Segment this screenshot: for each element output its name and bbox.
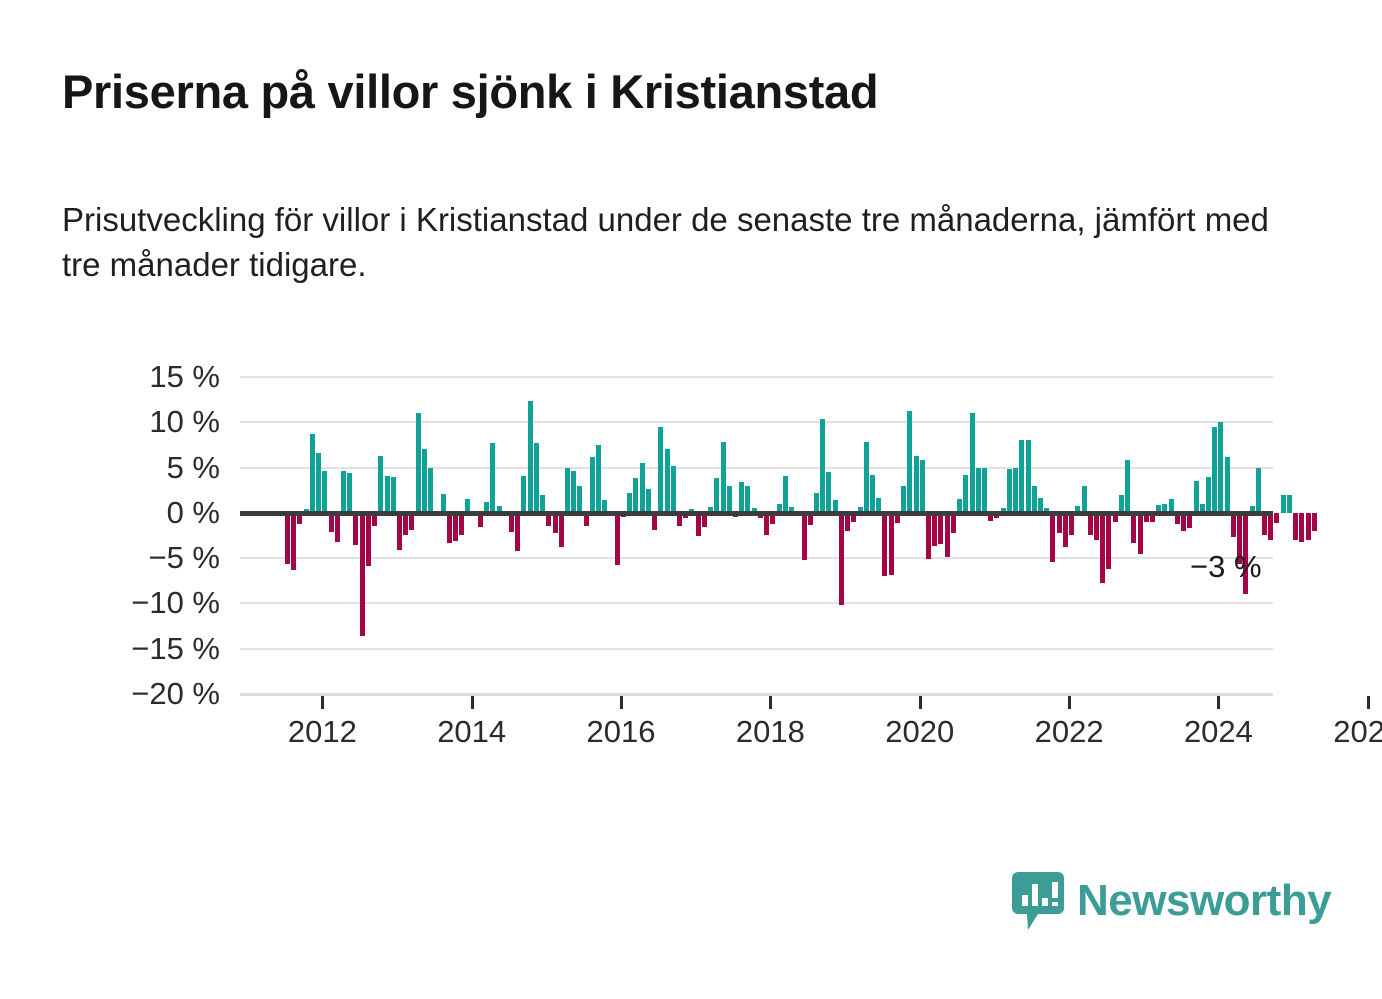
- bar: [571, 471, 576, 513]
- plot-area: [240, 377, 1273, 694]
- bar: [665, 449, 670, 512]
- bar: [889, 513, 894, 575]
- bar: [1262, 513, 1267, 536]
- bar: [976, 468, 981, 513]
- bar: [1256, 468, 1261, 513]
- bar: [1212, 427, 1217, 513]
- bar: [316, 453, 321, 513]
- x-axis-tick: [1068, 696, 1071, 709]
- bar: [696, 513, 701, 537]
- bar: [1218, 422, 1223, 513]
- x-axis-tick-label: 2016: [587, 714, 656, 750]
- bar: [1019, 440, 1024, 512]
- bar: [764, 513, 769, 536]
- bar: [932, 513, 937, 547]
- bar: [596, 445, 601, 513]
- bar: [322, 471, 327, 513]
- bar: [366, 513, 371, 566]
- y-axis-tick-label: −5 %: [90, 540, 220, 576]
- bar: [1194, 481, 1199, 513]
- bar: [963, 475, 968, 513]
- bar: [1206, 477, 1211, 513]
- bar: [285, 513, 290, 564]
- bar: [783, 476, 788, 513]
- x-axis-tick: [321, 696, 324, 709]
- bar: [590, 457, 595, 513]
- bar: [559, 513, 564, 547]
- bar: [627, 493, 632, 513]
- bar: [1063, 513, 1068, 547]
- bar: [914, 456, 919, 513]
- y-axis-tick-label: 15 %: [90, 359, 220, 395]
- bar: [945, 513, 950, 557]
- x-axis-tick: [919, 696, 922, 709]
- bar-chart: 15 %10 %5 %0 %−5 %−10 %−15 %−20 % 201220…: [0, 0, 1382, 999]
- bar: [820, 419, 825, 513]
- bar: [1299, 513, 1304, 542]
- bar: [926, 513, 931, 559]
- bar: [745, 486, 750, 513]
- bar: [658, 427, 663, 513]
- bar: [870, 475, 875, 513]
- y-axis-tick-label: 0 %: [90, 495, 220, 531]
- bar: [534, 443, 539, 513]
- bar: [391, 477, 396, 513]
- bar-series: [240, 377, 1273, 694]
- bar: [521, 476, 526, 513]
- bar: [938, 513, 943, 544]
- x-axis-tick: [1367, 696, 1370, 709]
- bar: [882, 513, 887, 576]
- bar: [1013, 468, 1018, 513]
- bar: [1106, 513, 1111, 569]
- bar: [839, 513, 844, 605]
- bar: [453, 513, 458, 541]
- x-axis: 20122014201620182020202220242026: [240, 694, 1273, 774]
- bar: [714, 478, 719, 512]
- x-axis-tick-label: 2014: [437, 714, 506, 750]
- bar: [577, 486, 582, 513]
- bar: [1268, 513, 1273, 540]
- zero-line: [240, 511, 1273, 516]
- bar: [970, 413, 975, 513]
- bar: [1069, 513, 1074, 536]
- x-axis-tick: [769, 696, 772, 709]
- bar: [1306, 513, 1311, 540]
- bar: [1125, 460, 1130, 513]
- x-axis-tick-label: 2018: [736, 714, 805, 750]
- newsworthy-bar-chart-bubble-icon: [1012, 872, 1064, 930]
- x-axis-tick-label: 2026: [1333, 714, 1382, 750]
- x-axis-line: [240, 694, 1273, 696]
- bar: [901, 486, 906, 513]
- y-axis-tick-label: 10 %: [90, 404, 220, 440]
- bar: [1274, 513, 1279, 523]
- x-axis-tick: [620, 696, 623, 709]
- bar: [1131, 513, 1136, 543]
- y-axis-tick-label: 5 %: [90, 450, 220, 486]
- newsworthy-wordmark: Newsworthy: [1077, 879, 1331, 923]
- bar: [335, 513, 340, 542]
- bar: [1312, 513, 1317, 531]
- bar: [1231, 513, 1236, 537]
- bar: [291, 513, 296, 570]
- bar: [640, 463, 645, 513]
- bar: [528, 401, 533, 513]
- bar: [447, 513, 452, 543]
- bar: [864, 442, 869, 513]
- bar: [1032, 486, 1037, 513]
- x-axis-tick: [1217, 696, 1220, 709]
- bar: [403, 513, 408, 536]
- bar: [727, 486, 732, 513]
- x-axis-tick: [471, 696, 474, 709]
- x-axis-tick-label: 2012: [288, 714, 357, 750]
- bar: [397, 513, 402, 550]
- bar: [353, 513, 358, 546]
- y-axis-tick-label: −20 %: [90, 676, 220, 712]
- bar: [826, 472, 831, 513]
- x-axis-tick-label: 2020: [885, 714, 954, 750]
- bar: [385, 476, 390, 513]
- x-axis-tick-label: 2022: [1035, 714, 1104, 750]
- bar: [1293, 513, 1298, 540]
- bar: [310, 434, 315, 513]
- y-axis-tick-label: −15 %: [90, 631, 220, 667]
- bar: [814, 493, 819, 513]
- bar: [671, 466, 676, 513]
- bar: [428, 468, 433, 513]
- bar: [739, 482, 744, 513]
- bar: [360, 513, 365, 636]
- bar: [982, 468, 987, 513]
- bar: [422, 449, 427, 512]
- bar: [459, 513, 464, 536]
- bar: [1287, 495, 1292, 513]
- bar: [721, 442, 726, 513]
- bar: [1026, 440, 1031, 512]
- y-axis-labels: 15 %10 %5 %0 %−5 %−10 %−15 %−20 %: [90, 377, 220, 694]
- bar: [1050, 513, 1055, 562]
- bar: [1281, 495, 1286, 513]
- bar: [802, 513, 807, 560]
- bar: [1082, 486, 1087, 513]
- bar: [1100, 513, 1105, 584]
- x-axis-tick-label: 2024: [1184, 714, 1253, 750]
- bar: [1225, 457, 1230, 513]
- bar: [1138, 513, 1143, 554]
- latest-value-annotation: −3 %: [1190, 549, 1262, 585]
- bar: [907, 411, 912, 512]
- bar: [490, 443, 495, 513]
- bar: [615, 513, 620, 566]
- bar: [565, 468, 570, 513]
- bar: [646, 489, 651, 513]
- bar: [920, 460, 925, 513]
- bar: [347, 473, 352, 513]
- bar: [378, 456, 383, 513]
- bar: [515, 513, 520, 551]
- bar: [1094, 513, 1099, 540]
- bar: [416, 413, 421, 513]
- y-axis-tick-label: −10 %: [90, 585, 220, 621]
- bar: [341, 471, 346, 513]
- bar: [1007, 469, 1012, 512]
- newsworthy-logo: Newsworthy: [1012, 872, 1331, 930]
- bar: [1088, 513, 1093, 535]
- bar: [633, 478, 638, 512]
